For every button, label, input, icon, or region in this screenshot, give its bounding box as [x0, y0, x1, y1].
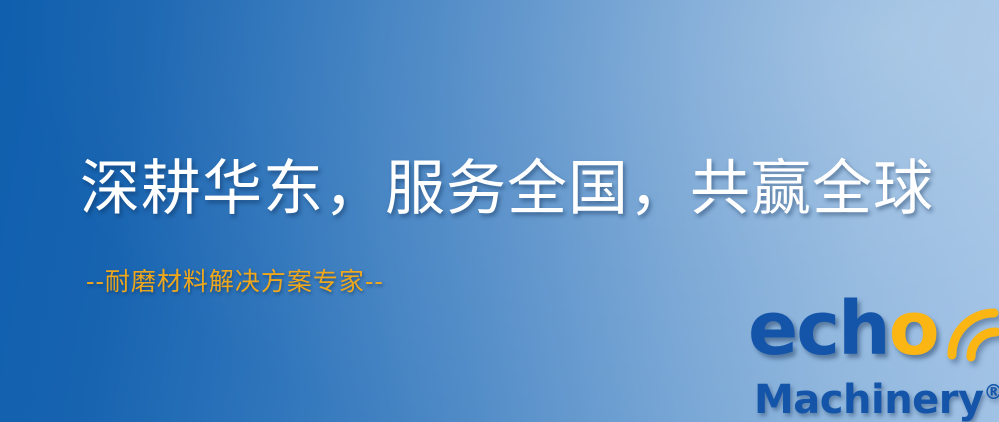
echo-machinery-logo: echo Machinery®: [748, 292, 996, 418]
logo-wordmark: echo: [748, 292, 938, 366]
banner-headline: 深耕华东，服务全国，共赢全球: [80, 155, 934, 223]
logo-tagline-text: Machinery: [754, 377, 984, 422]
promo-banner: 深耕华东，服务全国，共赢全球 --耐磨材料解决方案专家-- echo Machi…: [0, 0, 999, 422]
logo-tagline: Machinery®: [754, 370, 999, 422]
signal-arcs-icon: [930, 291, 999, 363]
registered-trademark-icon: ®: [984, 380, 999, 404]
logo-wordmark-prefix: ech: [748, 286, 889, 372]
banner-subtitle: --耐磨材料解决方案专家--: [86, 266, 384, 298]
